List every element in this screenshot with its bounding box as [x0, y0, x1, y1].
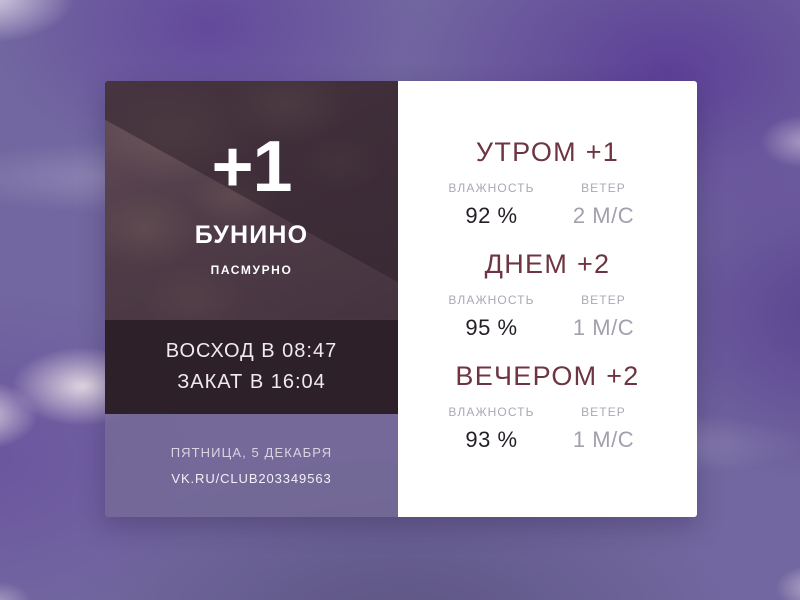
sunset-time: ЗАКАТ В 16:04: [177, 367, 326, 398]
forecast-block-day: ДНЕМ +2 ВЛАЖНОСТЬ ВЕТЕР 95 % 1 М/С: [398, 240, 697, 352]
forecast-labels-row: ВЛАЖНОСТЬ ВЕТЕР: [398, 179, 697, 197]
wind-value: 1 М/С: [573, 315, 634, 340]
weather-card: +1 БУНИНО ПАСМУРНО ВОСХОД В 08:47 ЗАКАТ …: [105, 81, 697, 517]
sun-times-panel: ВОСХОД В 08:47 ЗАКАТ В 16:04: [105, 320, 398, 414]
hero-content: +1 БУНИНО ПАСМУРНО: [105, 81, 398, 320]
city-name: БУНИНО: [195, 221, 309, 250]
forecast-block-morning: УТРОМ +1 ВЛАЖНОСТЬ ВЕТЕР 92 % 2 М/С: [398, 128, 697, 240]
current-date: ПЯТНИЦА, 5 ДЕКАБРЯ: [171, 445, 333, 460]
forecast-title: ДНЕМ +2: [398, 249, 697, 279]
forecast-labels-row: ВЛАЖНОСТЬ ВЕТЕР: [398, 403, 697, 421]
date-footer-panel: ПЯТНИЦА, 5 ДЕКАБРЯ VK.RU/CLUB203349563: [105, 414, 398, 517]
humidity-label: ВЛАЖНОСТЬ: [448, 181, 534, 195]
humidity-label: ВЛАЖНОСТЬ: [448, 293, 534, 307]
current-weather-hero: +1 БУНИНО ПАСМУРНО: [105, 81, 398, 320]
humidity-value-cell: 92 %: [436, 203, 548, 229]
humidity-label: ВЛАЖНОСТЬ: [448, 405, 534, 419]
wind-label: ВЕТЕР: [581, 181, 626, 195]
forecast-values-row: 95 % 1 М/С: [398, 315, 697, 341]
wind-value-cell: 2 М/С: [548, 203, 660, 229]
forecast-block-evening: ВЕЧЕРОМ +2 ВЛАЖНОСТЬ ВЕТЕР 93 % 1 М/С: [398, 352, 697, 464]
source-link[interactable]: VK.RU/CLUB203349563: [171, 471, 331, 486]
humidity-value: 95 %: [465, 315, 517, 340]
humidity-label-cell: ВЛАЖНОСТЬ: [436, 179, 548, 197]
forecast-labels-row: ВЛАЖНОСТЬ ВЕТЕР: [398, 291, 697, 309]
wind-label-cell: ВЕТЕР: [548, 403, 660, 421]
humidity-value: 93 %: [465, 427, 517, 452]
humidity-label-cell: ВЛАЖНОСТЬ: [436, 291, 548, 309]
humidity-value: 92 %: [465, 203, 517, 228]
wind-label-cell: ВЕТЕР: [548, 291, 660, 309]
forecast-title: УТРОМ +1: [398, 137, 697, 167]
humidity-label-cell: ВЛАЖНОСТЬ: [436, 403, 548, 421]
wind-value-cell: 1 М/С: [548, 315, 660, 341]
humidity-value-cell: 93 %: [436, 427, 548, 453]
wind-label: ВЕТЕР: [581, 405, 626, 419]
forecast-panel: УТРОМ +1 ВЛАЖНОСТЬ ВЕТЕР 92 % 2 М/С ДНЕМ…: [398, 81, 697, 517]
sunrise-time: ВОСХОД В 08:47: [166, 336, 337, 367]
forecast-values-row: 93 % 1 М/С: [398, 427, 697, 453]
wind-label-cell: ВЕТЕР: [548, 179, 660, 197]
current-temperature: +1: [211, 131, 291, 203]
weather-condition: ПАСМУРНО: [211, 263, 293, 277]
wind-value: 1 М/С: [573, 427, 634, 452]
humidity-value-cell: 95 %: [436, 315, 548, 341]
wind-value: 2 М/С: [573, 203, 634, 228]
forecast-title: ВЕЧЕРОМ +2: [398, 361, 697, 391]
wind-value-cell: 1 М/С: [548, 427, 660, 453]
card-left-column: +1 БУНИНО ПАСМУРНО ВОСХОД В 08:47 ЗАКАТ …: [105, 81, 398, 517]
wind-label: ВЕТЕР: [581, 293, 626, 307]
forecast-values-row: 92 % 2 М/С: [398, 203, 697, 229]
